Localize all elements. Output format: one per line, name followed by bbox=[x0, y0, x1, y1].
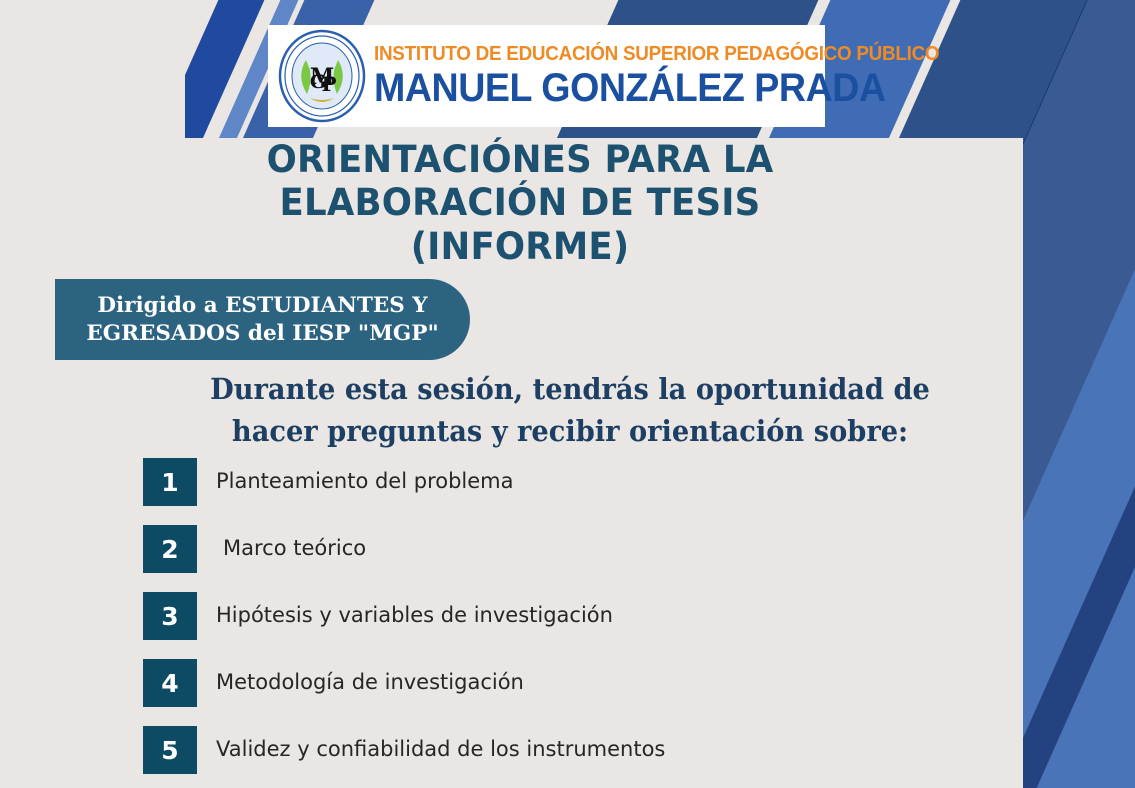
list-item-number: 5 bbox=[143, 726, 197, 774]
list-item: 5 Validez y confiabilidad de los instrum… bbox=[143, 726, 1003, 774]
audience-badge-line-1: Dirigido a ESTUDIANTES Y bbox=[85, 292, 440, 320]
audience-badge-line-2: EGRESADOS del IESP "MGP" bbox=[85, 320, 440, 348]
logo-institute-line: INSTITUTO DE EDUCACIÓN SUPERIOR PEDAGÓGI… bbox=[374, 43, 939, 66]
list-item: 2 Marco teórico bbox=[143, 525, 1003, 573]
institution-logo-banner: M G P G INSTITUTO DE EDUCACIÓN SUPERIOR … bbox=[268, 25, 825, 127]
list-item-label: Planteamiento del problema bbox=[197, 469, 514, 494]
logo-name-line: MANUEL GONZÁLEZ PRADA bbox=[374, 67, 952, 109]
list-item: 3 Hipótesis y variables de investigación bbox=[143, 592, 1003, 640]
list-item-label: Marco teórico bbox=[197, 536, 366, 561]
page-title: ORIENTACIÓNES PARA LA ELABORACIÓN DE TES… bbox=[165, 138, 875, 268]
institution-seal-icon: M G P G bbox=[276, 28, 368, 124]
list-item-number: 4 bbox=[143, 659, 197, 707]
page-title-line-2: ELABORACIÓN DE TESIS bbox=[165, 181, 875, 224]
session-subtitle: Durante esta sesión, tendrás la oportuni… bbox=[175, 368, 965, 452]
list-item: 4 Metodología de investigación bbox=[143, 659, 1003, 707]
list-item: 1 Planteamiento del problema bbox=[143, 458, 1003, 506]
list-item-label: Hipótesis y variables de investigación bbox=[197, 603, 613, 628]
poster-canvas: M G P G INSTITUTO DE EDUCACIÓN SUPERIOR … bbox=[0, 0, 1135, 788]
page-title-line-3: (INFORME) bbox=[165, 225, 875, 268]
list-item-number: 3 bbox=[143, 592, 197, 640]
audience-badge-text: Dirigido a ESTUDIANTES Y EGRESADOS del I… bbox=[85, 292, 440, 347]
list-item-label: Metodología de investigación bbox=[197, 670, 524, 695]
list-item-number: 1 bbox=[143, 458, 197, 506]
logo-text-block: INSTITUTO DE EDUCACIÓN SUPERIOR PEDAGÓGI… bbox=[368, 43, 988, 110]
page-title-line-1: ORIENTACIÓNES PARA LA bbox=[165, 138, 875, 181]
topic-list: 1 Planteamiento del problema 2 Marco teó… bbox=[143, 458, 1003, 788]
audience-badge: Dirigido a ESTUDIANTES Y EGRESADOS del I… bbox=[55, 279, 470, 360]
svg-text:G: G bbox=[310, 71, 326, 93]
list-item-number: 2 bbox=[143, 525, 197, 573]
list-item-label: Validez y confiabilidad de los instrumen… bbox=[197, 737, 665, 762]
session-subtitle-line-2: hacer preguntas y recibir orientación so… bbox=[175, 410, 965, 452]
session-subtitle-line-1: Durante esta sesión, tendrás la oportuni… bbox=[175, 368, 965, 410]
